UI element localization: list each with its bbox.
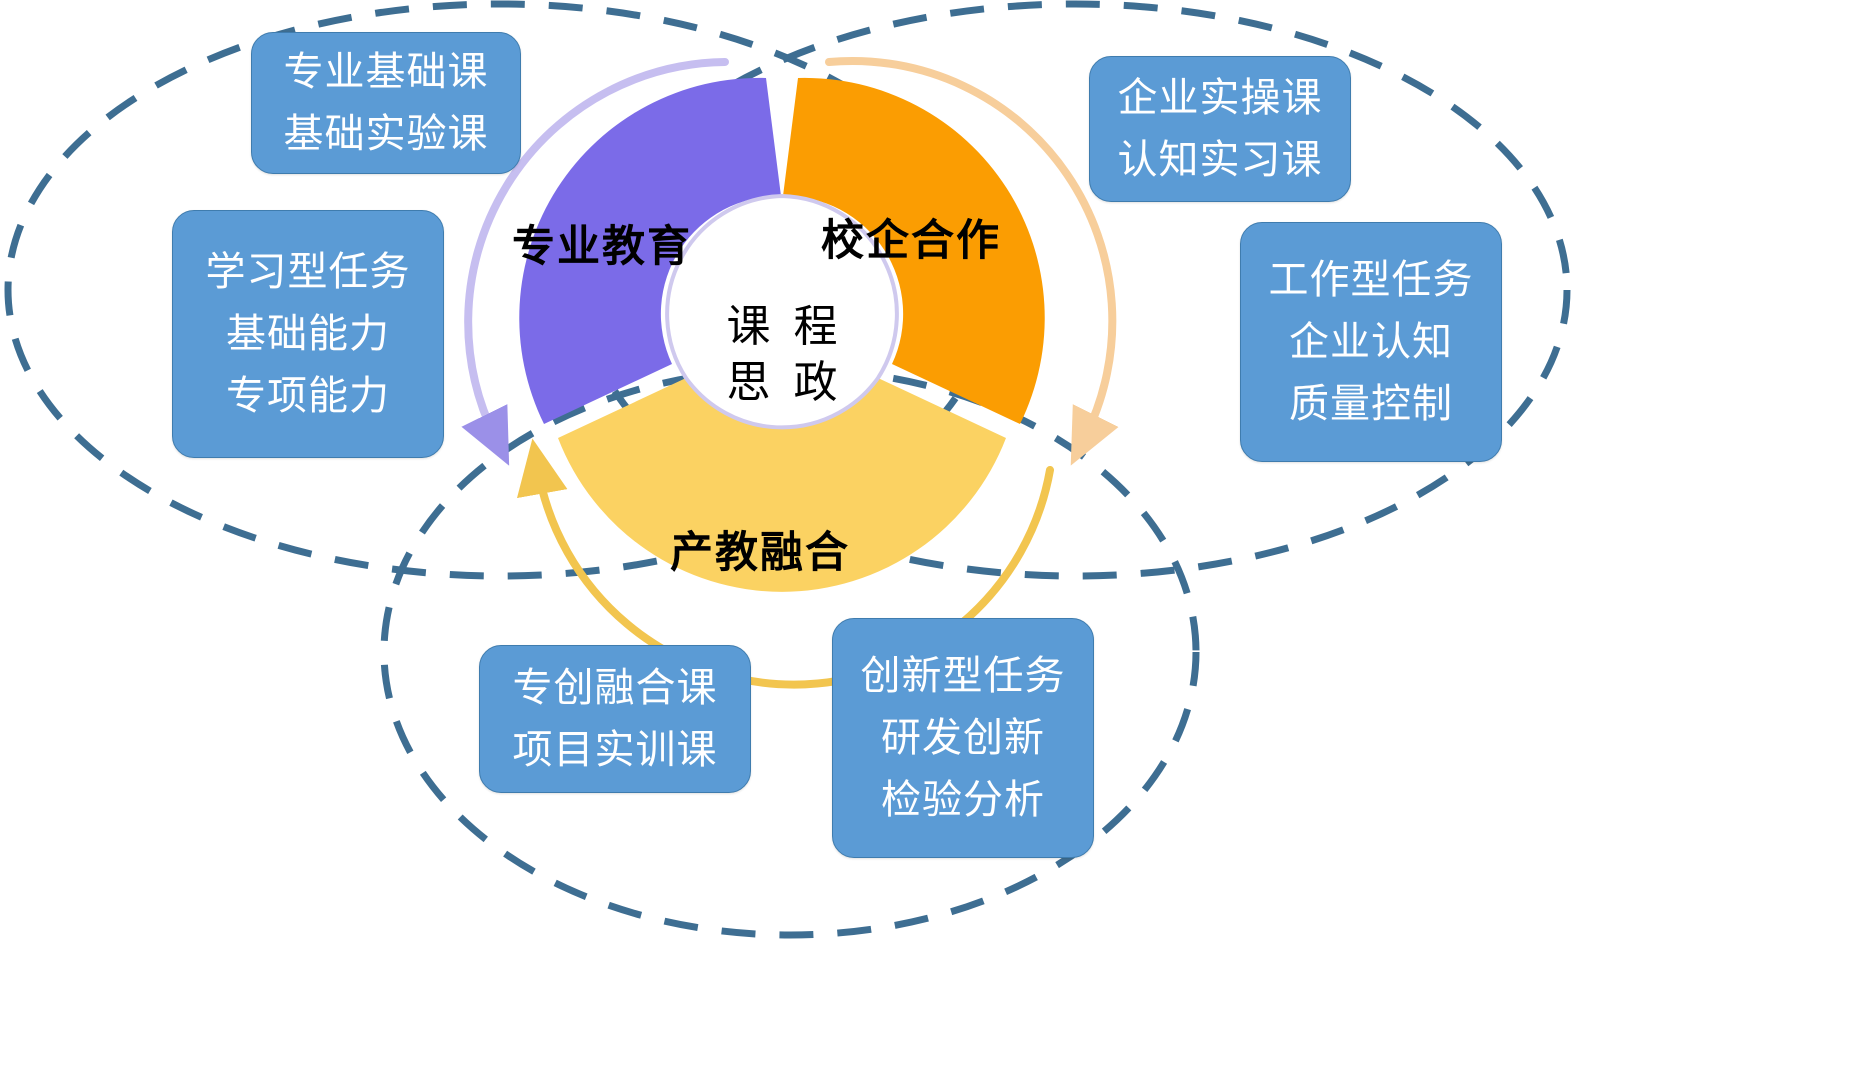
segment-label-school-enterprise-cooperation: 校企合作 bbox=[821, 206, 1001, 268]
center-label-line-1: 课 程 bbox=[721, 299, 844, 355]
infobox-professional-basic-courses[interactable]: 专业基础课 基础实验课 bbox=[251, 32, 521, 174]
infobox-enterprise-practice-courses[interactable]: 企业实操课 认知实习课 bbox=[1089, 56, 1351, 202]
infobox-line: 研发创新 bbox=[881, 707, 1045, 769]
center-label: 课 程 思 政 bbox=[700, 290, 864, 420]
infobox-line: 基础能力 bbox=[226, 303, 390, 365]
infobox-innovation-type-tasks[interactable]: 创新型任务 研发创新 检验分析 bbox=[832, 618, 1094, 858]
infobox-innovation-integrated-courses[interactable]: 专创融合课 项目实训课 bbox=[479, 645, 751, 793]
infobox-line: 专项能力 bbox=[226, 365, 390, 427]
infobox-line: 工作型任务 bbox=[1269, 249, 1474, 311]
infobox-line: 项目实训课 bbox=[513, 719, 718, 781]
infobox-line: 企业认知 bbox=[1289, 311, 1453, 373]
infobox-line: 创新型任务 bbox=[861, 645, 1066, 707]
infobox-line: 专创融合课 bbox=[513, 657, 718, 719]
segment-label-industry-education-integration: 产教融合 bbox=[670, 518, 850, 580]
infobox-line: 质量控制 bbox=[1289, 373, 1453, 435]
center-label-line-2: 思 政 bbox=[721, 355, 844, 411]
infobox-line: 专业基础课 bbox=[284, 41, 489, 103]
infobox-line: 认知实习课 bbox=[1118, 129, 1323, 191]
infobox-line: 企业实操课 bbox=[1118, 67, 1323, 129]
diagram-canvas: 专业教育 校企合作 产教融合 课 程 思 政 专业基础课 基础实验课 学习型任务… bbox=[0, 0, 1856, 1074]
infobox-work-type-tasks[interactable]: 工作型任务 企业认知 质量控制 bbox=[1240, 222, 1502, 462]
infobox-learning-type-tasks[interactable]: 学习型任务 基础能力 专项能力 bbox=[172, 210, 444, 458]
infobox-line: 检验分析 bbox=[881, 769, 1045, 831]
segment-label-professional-education: 专业教育 bbox=[512, 212, 692, 274]
infobox-line: 学习型任务 bbox=[206, 241, 411, 303]
infobox-line: 基础实验课 bbox=[284, 103, 489, 165]
